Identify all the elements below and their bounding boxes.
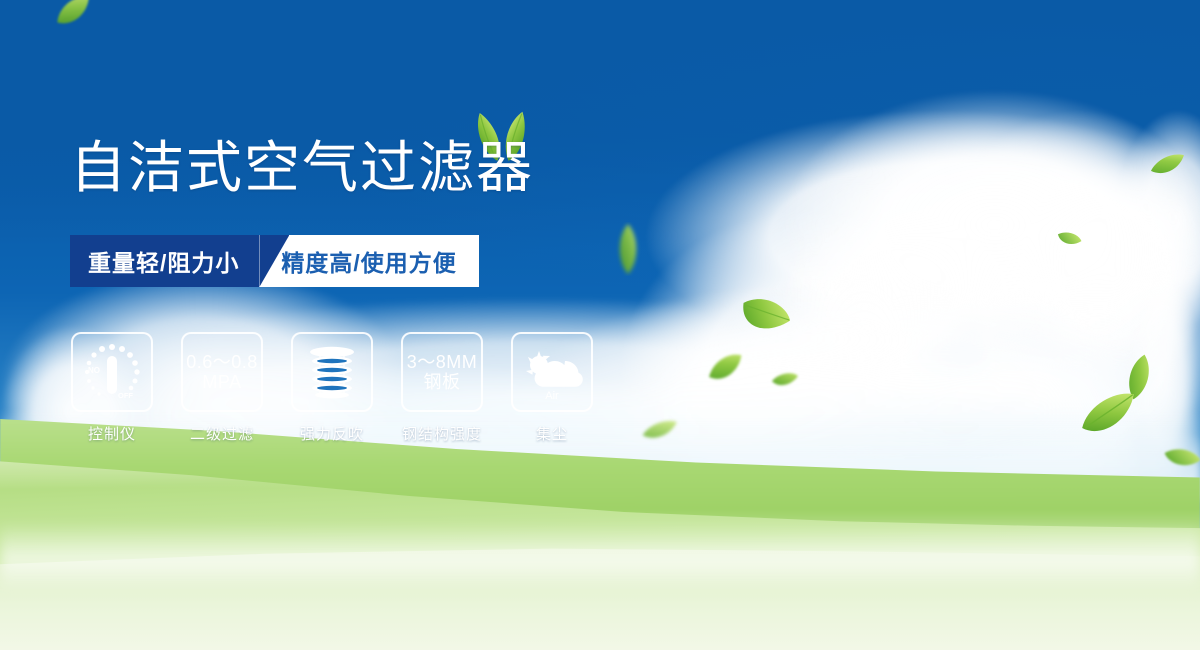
banner-content: 自洁式空气过滤器 重量轻/阻力小 精度高/使用方便 — [0, 0, 1200, 650]
filter-cartridge-icon — [302, 342, 362, 402]
feature-icon-box: NO OFF — [71, 332, 153, 412]
gauge-no-label: NO — [88, 366, 100, 375]
feature-label: 强力反吹 — [300, 423, 364, 444]
feature-icon-box: 0.6～0.8 MPA — [181, 332, 263, 412]
product-hero-banner: 自洁式空气过滤器 重量轻/阻力小 精度高/使用方便 — [0, 0, 1200, 650]
page-title: 自洁式空气过滤器 — [70, 140, 534, 196]
feature-item-control-gauge[interactable]: NO OFF 控制仪 — [70, 332, 154, 444]
gauge-dial-icon: NO OFF — [79, 340, 145, 404]
feature-item-dust-collection[interactable]: Air 集尘 — [510, 332, 594, 444]
feature-label: 钢结构强度 — [402, 423, 482, 444]
feature-icon-box: Air — [511, 332, 593, 412]
feature-list: NO OFF 控制仪 0.6～0.8 MPA 二级过滤 — [70, 332, 594, 444]
feature-icon-box: 3～8MM 钢板 — [401, 332, 483, 412]
pressure-text-icon: 0.6～0.8 MPA — [186, 352, 258, 392]
subtitle-badge-right: 精度高/使用方便 — [255, 235, 478, 287]
feature-item-pressure[interactable]: 0.6～0.8 MPA 二级过滤 — [180, 332, 264, 444]
steel-plate-text-icon: 3～8MM 钢板 — [407, 352, 478, 392]
feature-label: 控制仪 — [88, 423, 136, 444]
subtitle-badge-left: 重量轻/阻力小 — [70, 235, 259, 287]
feature-icon-box — [291, 332, 373, 412]
gauge-off-label: OFF — [118, 391, 133, 400]
feature-item-steel-strength[interactable]: 3～8MM 钢板 钢结构强度 — [400, 332, 484, 444]
feature-label: 二级过滤 — [190, 423, 254, 444]
subtitle-badge-bar: 重量轻/阻力小 精度高/使用方便 — [70, 235, 479, 287]
cloud-air-icon: Air — [519, 341, 585, 403]
feature-label: 集尘 — [536, 423, 568, 444]
air-label: Air — [545, 390, 559, 402]
feature-item-blowback[interactable]: 强力反吹 — [290, 332, 374, 444]
